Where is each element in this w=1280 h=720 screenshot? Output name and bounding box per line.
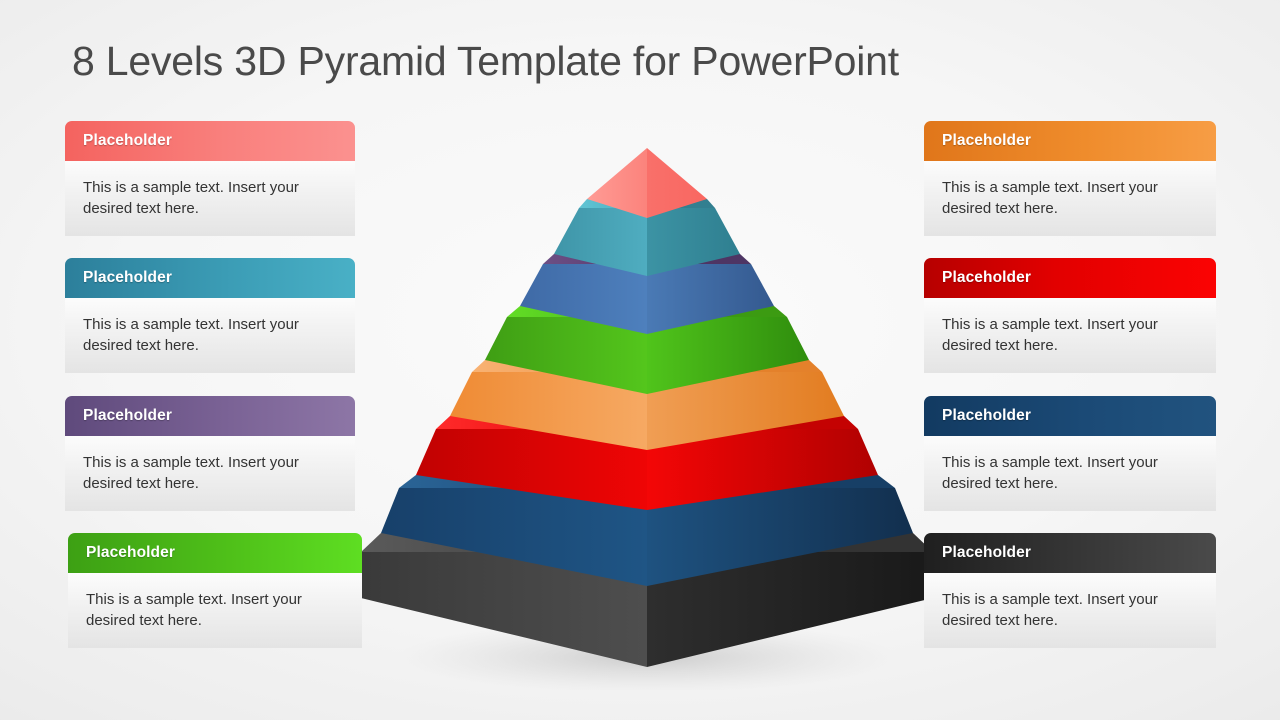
right-box-3-text: This is a sample text. Insert your desir… — [942, 452, 1200, 495]
slide-canvas: 8 Levels 3D Pyramid Template for PowerPo… — [0, 0, 1280, 720]
left-box-4-body[interactable]: This is a sample text. Insert your desir… — [68, 573, 362, 648]
left-box-3-title: Placeholder — [83, 407, 172, 425]
right-box-2-title: Placeholder — [942, 269, 1031, 287]
right-box-2-header[interactable]: Placeholder — [924, 258, 1216, 298]
right-box-2-body[interactable]: This is a sample text. Insert your desir… — [924, 298, 1216, 373]
left-box-3-text: This is a sample text. Insert your desir… — [83, 452, 339, 495]
right-box-4-title: Placeholder — [942, 544, 1031, 562]
right-box-3-body[interactable]: This is a sample text. Insert your desir… — [924, 436, 1216, 511]
left-box-1-body[interactable]: This is a sample text. Insert your desir… — [65, 161, 355, 236]
left-box-2[interactable]: Placeholder This is a sample text. Inser… — [65, 258, 355, 373]
right-box-4-text: This is a sample text. Insert your desir… — [942, 589, 1200, 632]
right-box-2-text: This is a sample text. Insert your desir… — [942, 314, 1200, 357]
left-box-1-text: This is a sample text. Insert your desir… — [83, 177, 339, 220]
right-box-1-body[interactable]: This is a sample text. Insert your desir… — [924, 161, 1216, 236]
right-box-3-header[interactable]: Placeholder — [924, 396, 1216, 436]
left-box-4-text: This is a sample text. Insert your desir… — [86, 589, 346, 632]
right-box-4-header[interactable]: Placeholder — [924, 533, 1216, 573]
left-box-2-body[interactable]: This is a sample text. Insert your desir… — [65, 298, 355, 373]
left-box-4-header[interactable]: Placeholder — [68, 533, 362, 573]
right-box-1[interactable]: Placeholder This is a sample text. Inser… — [924, 121, 1216, 236]
left-box-2-title: Placeholder — [83, 269, 172, 287]
right-box-3-title: Placeholder — [942, 407, 1031, 425]
pyramid-graphic[interactable] — [340, 120, 960, 690]
right-box-2[interactable]: Placeholder This is a sample text. Inser… — [924, 258, 1216, 373]
left-box-1[interactable]: Placeholder This is a sample text. Inser… — [65, 121, 355, 236]
right-box-4-body[interactable]: This is a sample text. Insert your desir… — [924, 573, 1216, 648]
left-box-1-title: Placeholder — [83, 132, 172, 150]
left-box-3[interactable]: Placeholder This is a sample text. Inser… — [65, 396, 355, 511]
right-box-1-title: Placeholder — [942, 132, 1031, 150]
right-box-4[interactable]: Placeholder This is a sample text. Inser… — [924, 533, 1216, 648]
right-box-1-header[interactable]: Placeholder — [924, 121, 1216, 161]
left-box-2-header[interactable]: Placeholder — [65, 258, 355, 298]
left-box-3-body[interactable]: This is a sample text. Insert your desir… — [65, 436, 355, 511]
left-box-2-text: This is a sample text. Insert your desir… — [83, 314, 339, 357]
right-box-1-text: This is a sample text. Insert your desir… — [942, 177, 1200, 220]
page-title: 8 Levels 3D Pyramid Template for PowerPo… — [72, 38, 1172, 85]
left-box-3-header[interactable]: Placeholder — [65, 396, 355, 436]
left-box-4-title: Placeholder — [86, 544, 175, 562]
left-box-4[interactable]: Placeholder This is a sample text. Inser… — [68, 533, 362, 648]
right-box-3[interactable]: Placeholder This is a sample text. Inser… — [924, 396, 1216, 511]
left-box-1-header[interactable]: Placeholder — [65, 121, 355, 161]
